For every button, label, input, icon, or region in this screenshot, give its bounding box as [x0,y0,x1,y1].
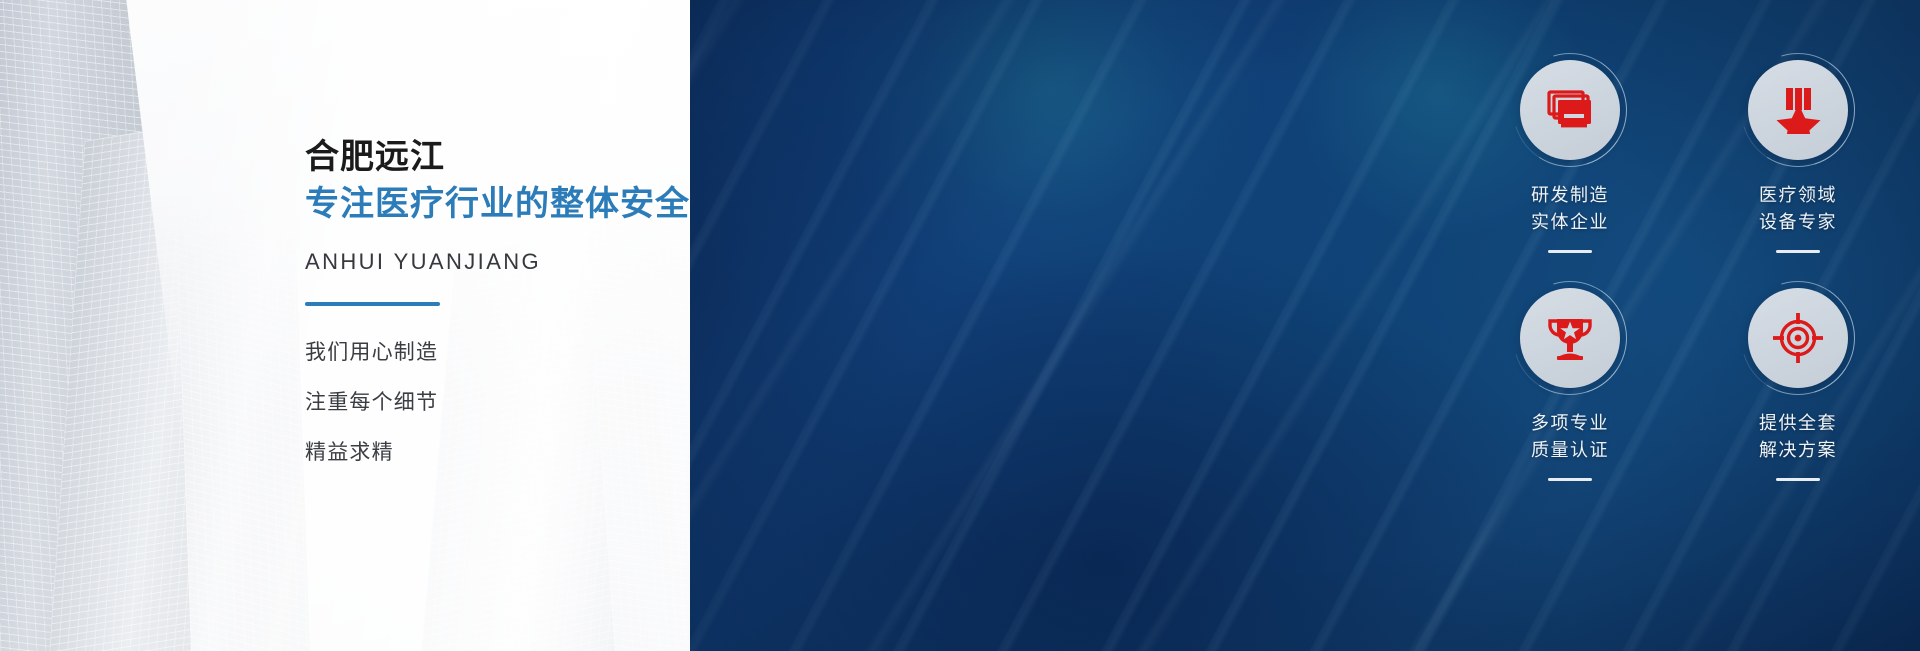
feature-item-trophy[interactable]: 多项专业 质量认证 [1470,288,1670,481]
icon-ring [1748,288,1848,388]
icon-ring [1520,60,1620,160]
feature-grid: 研发制造 实体企业 [690,0,1920,651]
icon-ring [1520,288,1620,388]
feature-underline [1776,250,1820,253]
promo-banner: 合肥远江 专注医疗行业的整体安全 ANHUI YUANJIANG 我们用心制造 … [0,0,1920,651]
slogan-line: 我们用心制造 [305,342,685,363]
factory-icon [1545,89,1595,131]
feature-label: 多项专业 质量认证 [1470,410,1670,464]
feature-label: 医疗领域 设备专家 [1698,182,1898,236]
tagline-heading: 专注医疗行业的整体安全 [305,182,685,227]
feature-label-line1: 医疗领域 [1698,182,1898,209]
accent-divider [305,302,440,306]
company-name-heading: 合肥远江 [305,135,685,180]
feature-label-line1: 提供全套 [1698,410,1898,437]
feature-underline [1548,250,1592,253]
feature-label: 研发制造 实体企业 [1470,182,1670,236]
feature-label-line2: 质量认证 [1470,437,1670,464]
icon-ring [1748,60,1848,160]
feature-underline [1548,478,1592,481]
feature-label: 提供全套 解决方案 [1698,410,1898,464]
icon-disc [1520,60,1620,160]
feature-label-line2: 实体企业 [1470,209,1670,236]
slogan-line: 注重每个细节 [305,392,685,413]
feature-label-line1: 多项专业 [1470,410,1670,437]
feature-item-factory[interactable]: 研发制造 实体企业 [1470,60,1670,253]
right-features-panel: 研发制造 实体企业 [690,0,1920,651]
target-icon [1773,313,1823,363]
left-hero-panel: 合肥远江 专注医疗行业的整体安全 ANHUI YUANJIANG 我们用心制造 … [0,0,690,651]
icon-disc [1520,288,1620,388]
trophy-icon [1545,315,1595,361]
feature-item-target[interactable]: 提供全套 解决方案 [1698,288,1898,481]
feature-label-line1: 研发制造 [1470,182,1670,209]
feature-label-line2: 解决方案 [1698,437,1898,464]
feature-item-medal[interactable]: 医疗领域 设备专家 [1698,60,1898,253]
feature-label-line2: 设备专家 [1698,209,1898,236]
medal-star-icon [1775,86,1821,134]
hero-text-block: 合肥远江 专注医疗行业的整体安全 ANHUI YUANJIANG 我们用心制造 … [305,135,685,463]
icon-disc [1748,60,1848,160]
company-name-pinyin: ANHUI YUANJIANG [305,249,685,275]
icon-disc [1748,288,1848,388]
feature-underline [1776,478,1820,481]
slogan-list: 我们用心制造 注重每个细节 精益求精 [305,342,685,463]
slogan-line: 精益求精 [305,442,685,463]
